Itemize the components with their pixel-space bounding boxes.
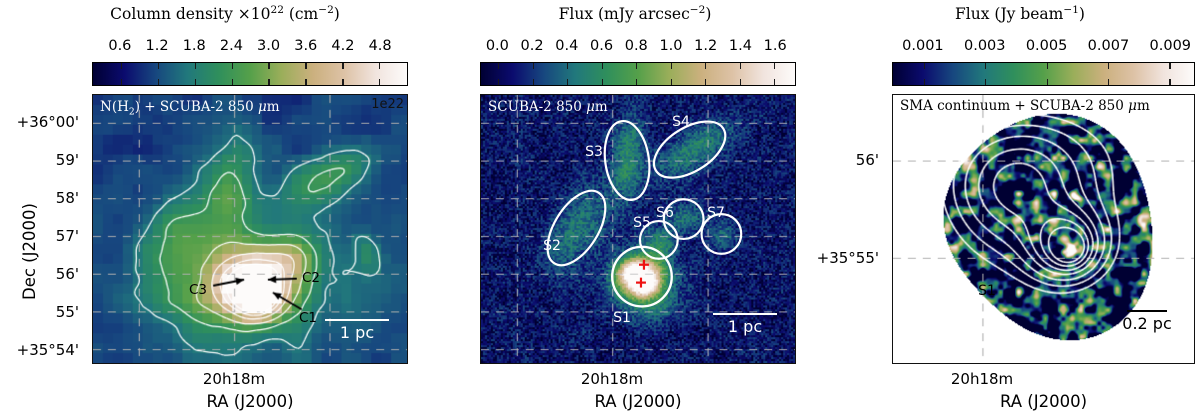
colorbar-tick [342, 79, 343, 85]
panel3-colorbar-ticklabels: 0.0010.0030.0050.0070.009 [892, 38, 1195, 56]
panel2-xaxis-title: RA (J2000) [480, 392, 796, 411]
colorbar-tick [1047, 79, 1048, 85]
colorbar-tick [1047, 63, 1048, 69]
xtick-label: 20h18m [951, 370, 1013, 388]
colorbar-tick [602, 63, 603, 69]
colorbar-tick [232, 63, 233, 69]
colorbar-tick [602, 79, 603, 85]
panel3-xtick-labels: 20h18m [892, 370, 1195, 390]
ytick-label: 56' [56, 265, 86, 283]
ytick-label: 58' [56, 189, 86, 207]
colorbar-tick [268, 63, 269, 69]
colorbar-tick [567, 79, 568, 85]
panel2-label-s1: S1 [613, 310, 631, 326]
ytick-label: +35°54' [17, 341, 86, 359]
ytick-label: 59' [56, 151, 86, 169]
panel3-ytick-labels: 56'+35°55' [830, 94, 886, 364]
panel-sma-continuum: Flux (Jy beam−1) 0.0010.0030.0050.0070.0… [830, 0, 1200, 414]
colorbar-tick [232, 79, 233, 85]
colorbar-tick [533, 79, 534, 85]
panel3-label-s1: S1 [978, 283, 996, 299]
panel3-scalebar-label: 0.2 pc [1122, 314, 1171, 333]
panel1-colorbar-ticklabels: 0.61.21.82.43.03.64.24.8 [92, 38, 408, 56]
colorbar-tick [924, 79, 925, 85]
panel2-colorbar [480, 62, 796, 86]
colorbar-tick-label: 1.2 [146, 38, 169, 54]
colorbar-tick-label: 0.007 [1088, 38, 1130, 54]
colorbar-tick [305, 63, 306, 69]
panel2-label-s3: S3 [585, 144, 603, 160]
colorbar-tick [924, 63, 925, 69]
xtick-label: 20h18m [203, 370, 265, 388]
colorbar-tick [636, 79, 637, 85]
panel-column-density: Column density ×1022 (cm−2) 0.61.21.82.4… [0, 0, 440, 414]
panel2-image-axes[interactable]: SCUBA-2 850 μm 1 pc S1 S2 S3 S4 S5 S6 S7 [480, 94, 796, 364]
panel1-core-label-c1: C1 [299, 310, 317, 326]
panel3-image-axes[interactable]: SMA continuum + SCUBA-2 850 μm 0.2 pc S1 [892, 94, 1195, 364]
colorbar-tick [671, 63, 672, 69]
panel2-label-s5: S5 [633, 215, 651, 231]
panel3-scalebar-line [1127, 310, 1167, 312]
panel2-scalebar-label: 1 pc [728, 317, 762, 336]
colorbar-tick [671, 79, 672, 85]
panel2-xtick-labels: 20h18m [480, 370, 796, 390]
colorbar-tick-label: 0.001 [902, 38, 944, 54]
colorbar-tick [533, 63, 534, 69]
colorbar-tick [195, 63, 196, 69]
colorbar-tick [985, 79, 986, 85]
colorbar-tick [379, 79, 380, 85]
colorbar-tick-label: 1.6 [764, 38, 787, 54]
xtick-label: 20h18m [581, 370, 643, 388]
colorbar-tick [379, 63, 380, 69]
panel1-core-label-c2: C2 [302, 270, 320, 286]
panel2-scalebar-line [713, 313, 777, 315]
ytick-label: 56' [856, 151, 886, 169]
colorbar-tick-label: 0.005 [1026, 38, 1068, 54]
colorbar-tick [567, 63, 568, 69]
colorbar-tick [1169, 63, 1170, 69]
panel3-colorbar [892, 62, 1195, 86]
panel1-xaxis-title: RA (J2000) [92, 392, 408, 411]
colorbar-tick-label: 1.4 [729, 38, 752, 54]
panel2-label-s4: S4 [672, 114, 690, 130]
colorbar-tick [774, 79, 775, 85]
colorbar-tick-label: 0.2 [521, 38, 544, 54]
panel2-label-s6: S6 [656, 205, 674, 221]
colorbar-tick [774, 63, 775, 69]
panel1-scalebar-line [325, 319, 389, 321]
colorbar-tick-label: 1.2 [694, 38, 717, 54]
panel2-label-s2: S2 [543, 238, 561, 254]
panel2-colorbar-ticklabels: 0.00.20.40.60.81.01.21.41.6 [480, 38, 796, 56]
colorbar-tick-label: 0.6 [108, 38, 131, 54]
panel2-colorbar-title: Flux (mJy arcsec−2) [460, 4, 810, 23]
colorbar-tick [1108, 79, 1109, 85]
colorbar-tick-label: 3.6 [294, 38, 317, 54]
colorbar-tick [705, 79, 706, 85]
colorbar-tick-label: 2.4 [220, 38, 243, 54]
colorbar-tick-label: 1.8 [183, 38, 206, 54]
colorbar-tick [705, 63, 706, 69]
colorbar-tick [740, 63, 741, 69]
colorbar-tick-label: 1.0 [659, 38, 682, 54]
colorbar-tick [268, 79, 269, 85]
ytick-label: 55' [56, 303, 86, 321]
panel1-scalebar-label: 1 pc [340, 323, 374, 342]
panel3-xaxis-title: RA (J2000) [892, 392, 1195, 411]
colorbar-tick [342, 63, 343, 69]
colorbar-tick [636, 63, 637, 69]
panel1-yaxis-title: Dec (J2000) [20, 203, 39, 300]
panel3-colorbar-title: Flux (Jy beam−1) [850, 4, 1190, 23]
ytick-label: +35°55' [817, 249, 886, 267]
panel1-ytick-labels: +36°00'59'58'57'56'55'+35°54' [0, 94, 86, 364]
colorbar-tick-label: 0.003 [964, 38, 1006, 54]
panel1-exponent-label: 1e22 [371, 97, 404, 112]
colorbar-tick [740, 79, 741, 85]
panel1-core-label-c3: C3 [189, 282, 207, 298]
colorbar-tick [121, 63, 122, 69]
panel1-colorbar [92, 62, 408, 86]
colorbar-tick-label: 0.6 [590, 38, 613, 54]
colorbar-tick [498, 79, 499, 85]
colorbar-tick-label: 3.0 [257, 38, 280, 54]
colorbar-tick-label: 0.0 [486, 38, 509, 54]
panel-scuba2-flux: Flux (mJy arcsec−2) 0.00.20.40.60.81.01.… [440, 0, 830, 414]
colorbar-tick-label: 4.8 [369, 38, 392, 54]
panel1-xtick-labels: 20h18m [92, 370, 408, 390]
colorbar-tick-label: 0.4 [555, 38, 578, 54]
colorbar-tick [158, 63, 159, 69]
colorbar-tick-label: 0.8 [625, 38, 648, 54]
panel1-image-axes[interactable]: N(H2) + SCUBA-2 850 μm 1e22 1 pc C1 C2 C… [92, 94, 408, 364]
colorbar-tick [1169, 79, 1170, 85]
colorbar-tick [121, 79, 122, 85]
ytick-label: 57' [56, 227, 86, 245]
ytick-label: +36°00' [17, 113, 86, 131]
panel2-label-s7: S7 [707, 205, 725, 221]
colorbar-tick [985, 63, 986, 69]
colorbar-tick [498, 63, 499, 69]
colorbar-tick [195, 79, 196, 85]
colorbar-tick [158, 79, 159, 85]
panel1-colorbar-title: Column density ×1022 (cm−2) [40, 4, 410, 23]
colorbar-tick-label: 0.009 [1150, 38, 1192, 54]
colorbar-tick-label: 4.2 [331, 38, 354, 54]
colorbar-tick [1108, 63, 1109, 69]
colorbar-tick [305, 79, 306, 85]
